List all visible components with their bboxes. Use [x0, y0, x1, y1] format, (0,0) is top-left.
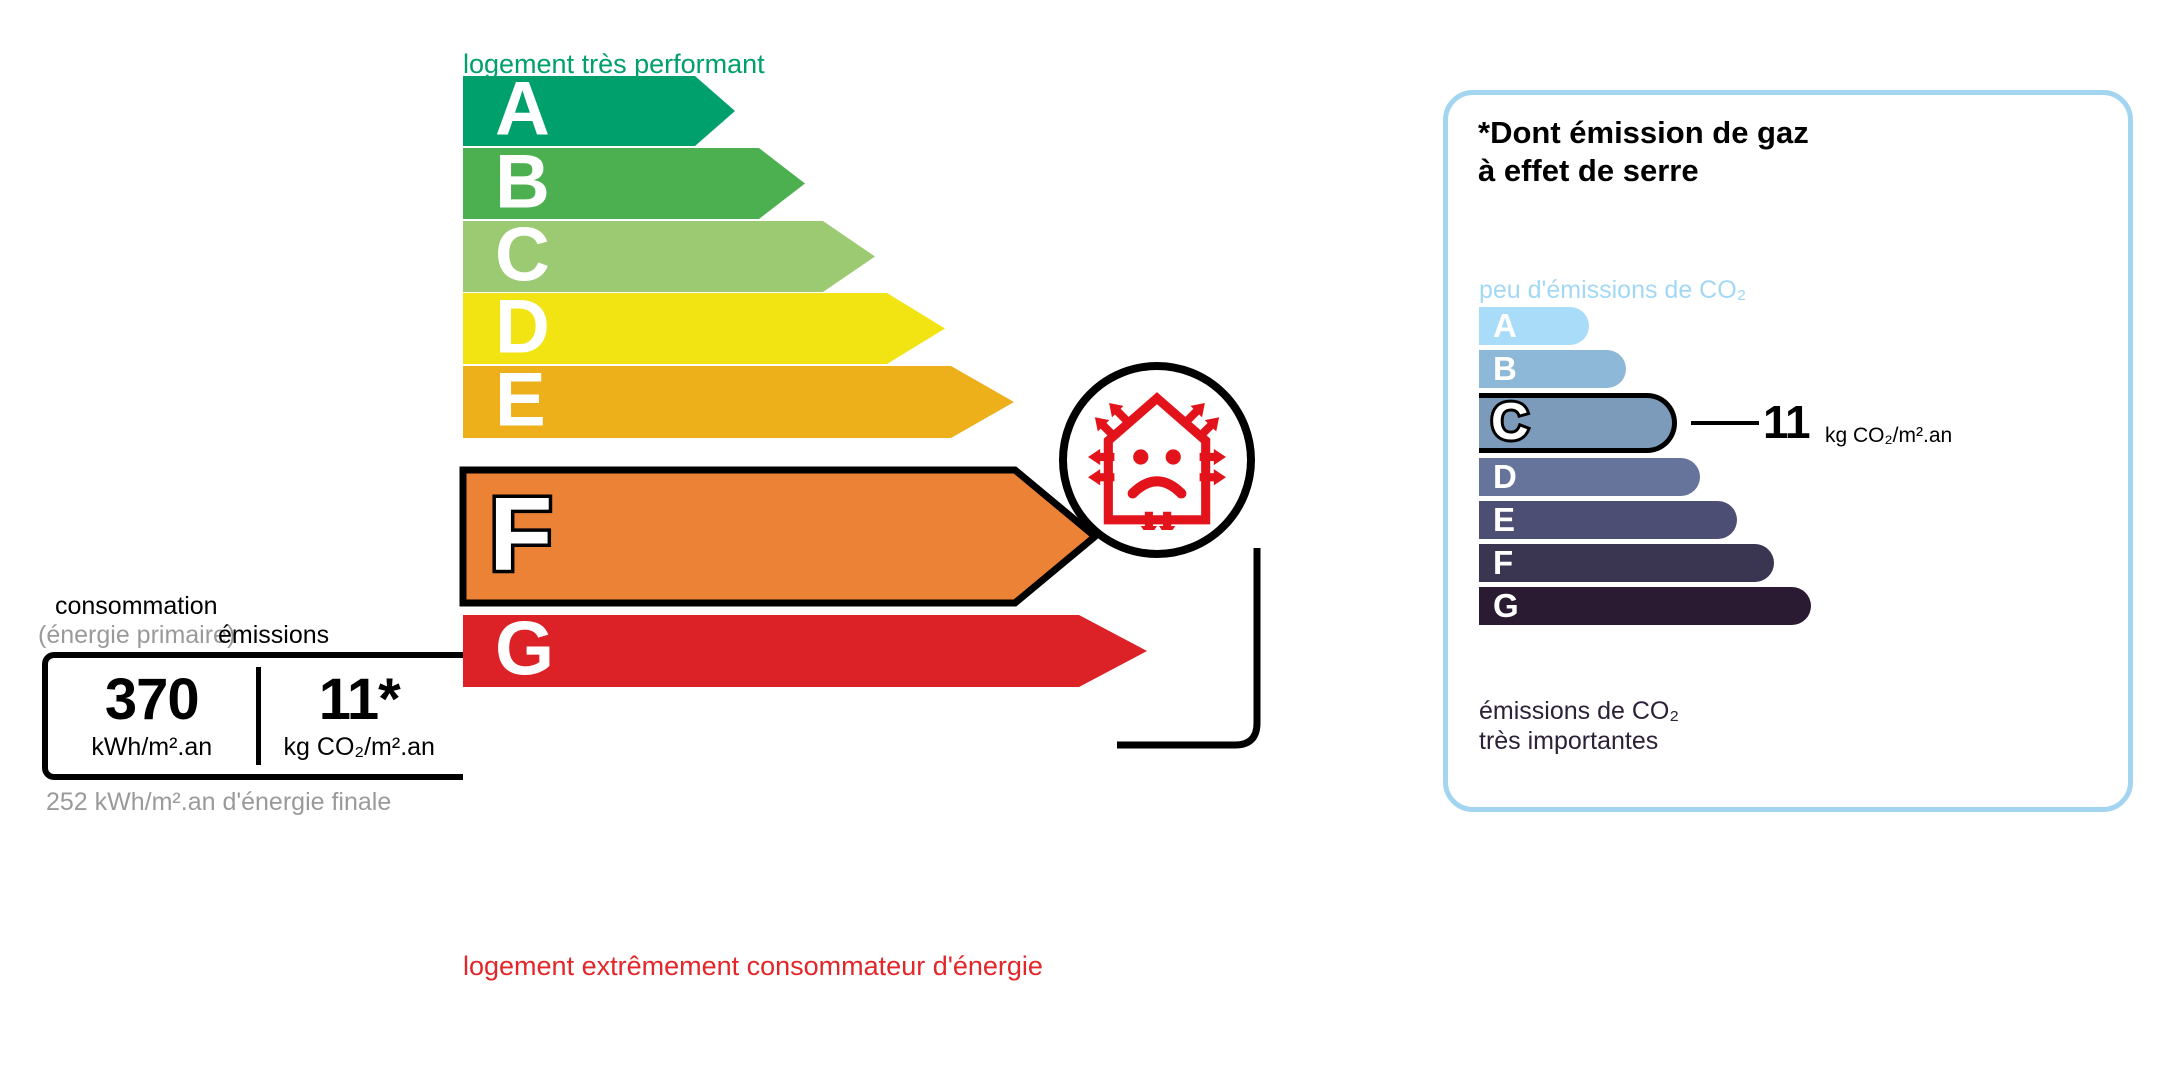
energy-bar-d: D	[463, 293, 945, 364]
energy-bar-f: F	[463, 470, 1095, 603]
energy-bar-row-g: G	[463, 615, 1147, 687]
energy-grade-letter: D	[495, 289, 550, 365]
co2-grade-letter: A	[1493, 309, 1517, 342]
emissions-label: émissions	[218, 621, 329, 650]
energy-grade-letter: E	[495, 362, 546, 438]
energy-bar-row-b: B	[463, 148, 805, 219]
energy-bar-row-a: A	[463, 76, 735, 146]
co2-unit: kg CO₂/m².an	[284, 733, 435, 762]
co2-bar-a: A	[1479, 307, 1589, 345]
co2-grade-letter: D	[1493, 460, 1517, 493]
co2-bar-row-g: G	[1479, 587, 2119, 625]
co2-bar-d: D	[1479, 458, 1700, 496]
co2-value: 11*	[319, 671, 400, 729]
energy-bar-b: B	[463, 148, 805, 219]
co2-bar-row-e: E	[1479, 501, 2119, 539]
energy-bar-e: E	[463, 366, 1014, 438]
energy-performance-panel: logement très performant ABCDEFG logemen…	[0, 0, 1330, 1079]
co2-grade-letter: C	[1491, 396, 1529, 448]
consumption-labels: consommation (énergie primaire) émission…	[55, 592, 475, 652]
co2-emissions-panel: *Dont émission de gaz à effet de serre p…	[1443, 90, 2133, 812]
energy-bar-row-e: E	[463, 366, 1014, 438]
co2-callout-value: 11	[1763, 399, 1810, 445]
energy-bar-c: C	[463, 221, 875, 292]
energy-grade-letter: C	[495, 217, 550, 293]
co2-value-cell: 11* kg CO₂/m².an	[256, 658, 464, 774]
energy-bar-row-d: D	[463, 293, 945, 364]
co2-bar-f: F	[1479, 544, 1774, 582]
co2-bar-b: B	[1479, 350, 1626, 388]
co2-bar-c: C	[1479, 393, 1677, 453]
energy-grade-letter: F	[489, 482, 553, 586]
co2-grade-letter: E	[1493, 503, 1515, 536]
house-heat-loss-sad-icon	[1086, 388, 1228, 530]
co2-bar-row-b: B	[1479, 350, 2119, 388]
energy-bottom-caption: logement extrêmement consommateur d'éner…	[463, 951, 1043, 982]
co2-grade-letter: G	[1493, 589, 1519, 622]
final-energy-note: 252 kWh/m².an d'énergie finale	[46, 788, 391, 817]
co2-bar-e: E	[1479, 501, 1737, 539]
co2-panel-title: *Dont émission de gaz à effet de serre	[1478, 114, 1809, 190]
consumption-label: consommation	[55, 592, 218, 621]
dpe-diagram: logement très performant ABCDEFG logemen…	[0, 0, 2169, 1079]
co2-bar-g: G	[1479, 587, 1811, 625]
consumption-value-box: 370 kWh/m².an 11* kg CO₂/m².an	[42, 652, 463, 780]
co2-bar-row-f: F	[1479, 544, 2119, 582]
co2-bar-row-c: C11kg CO₂/m².an	[1479, 393, 2119, 453]
co2-bar-row-a: A	[1479, 307, 2119, 345]
energy-grade-letter: G	[495, 611, 554, 687]
house-heat-loss-badge	[1059, 362, 1255, 558]
consumption-sublabel: (énergie primaire)	[38, 621, 235, 650]
energy-bar-g: G	[463, 615, 1147, 687]
energy-value: 370	[105, 671, 199, 729]
energy-bar-row-f: F	[463, 470, 1095, 603]
co2-bar-row-d: D	[1479, 458, 2119, 496]
co2-bottom-caption: émissions de CO₂ très importantes	[1479, 697, 1679, 756]
energy-grade-letter: A	[495, 71, 550, 147]
energy-bar-row-c: C	[463, 221, 875, 292]
energy-bar-a: A	[463, 76, 735, 146]
co2-callout-unit: kg CO₂/m².an	[1825, 425, 1952, 446]
co2-grade-letter: F	[1493, 546, 1513, 579]
energy-value-cell: 370 kWh/m².an	[48, 658, 256, 774]
energy-unit: kWh/m².an	[91, 733, 212, 762]
co2-callout-leader	[1691, 421, 1759, 425]
co2-top-caption: peu d'émissions de CO₂	[1479, 276, 1746, 305]
co2-grade-letter: B	[1493, 352, 1517, 385]
energy-grade-letter: B	[495, 144, 550, 220]
consumption-summary: consommation (énergie primaire) émission…	[55, 592, 475, 652]
